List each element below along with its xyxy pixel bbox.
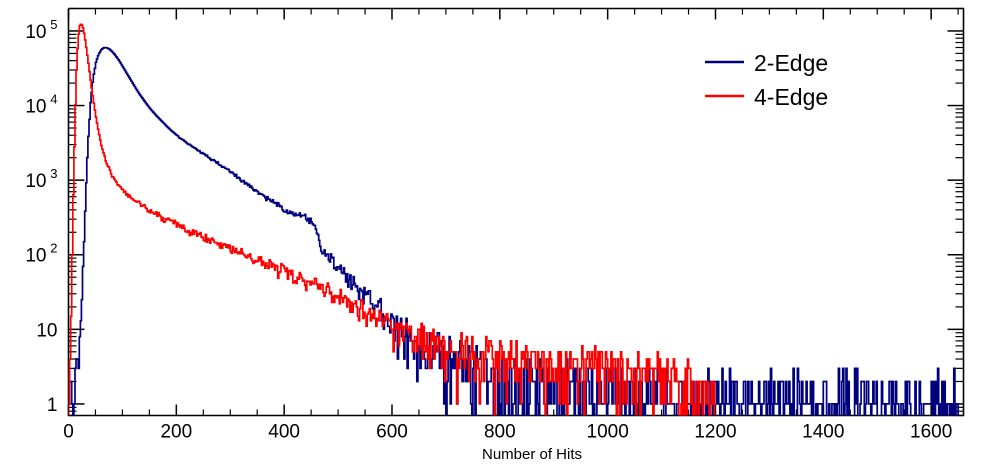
- y-tick-label-base: 10: [36, 320, 57, 341]
- chart-canvas: 02004006008001000120014001600 1102103104…: [0, 0, 996, 472]
- y-tick-label-base: 10: [25, 22, 46, 43]
- x-tick-label: 1000: [587, 422, 629, 443]
- x-tick-label: 1400: [802, 422, 844, 443]
- y-tick-label-base: 1: [47, 395, 58, 416]
- y-tick-label: 10: [36, 320, 57, 341]
- histogram-plot: 02004006008001000120014001600 1102103104…: [0, 0, 996, 472]
- y-tick-label-exponent: 5: [50, 17, 57, 32]
- x-tick-label: 200: [160, 422, 192, 443]
- y-tick-label-base: 10: [25, 246, 46, 267]
- x-tick-label: 1600: [910, 422, 952, 443]
- x-axis-title: Number of Hits: [482, 446, 582, 463]
- x-tick-label: 800: [484, 422, 516, 443]
- x-tick-label: 1200: [694, 422, 736, 443]
- y-tick-label: 1: [47, 395, 58, 416]
- y-tick-label-base: 10: [25, 171, 46, 192]
- legend-label-4-edge: 4-Edge: [754, 84, 828, 110]
- x-tick-label: 400: [268, 422, 300, 443]
- y-tick-label-exponent: 4: [50, 92, 57, 107]
- y-tick-label-base: 10: [25, 97, 46, 118]
- x-tick-label: 600: [376, 422, 408, 443]
- y-tick-label-exponent: 3: [50, 166, 57, 181]
- legend-label-2-edge: 2-Edge: [754, 50, 828, 76]
- x-tick-label: 0: [63, 422, 74, 443]
- y-tick-label-exponent: 2: [50, 241, 57, 256]
